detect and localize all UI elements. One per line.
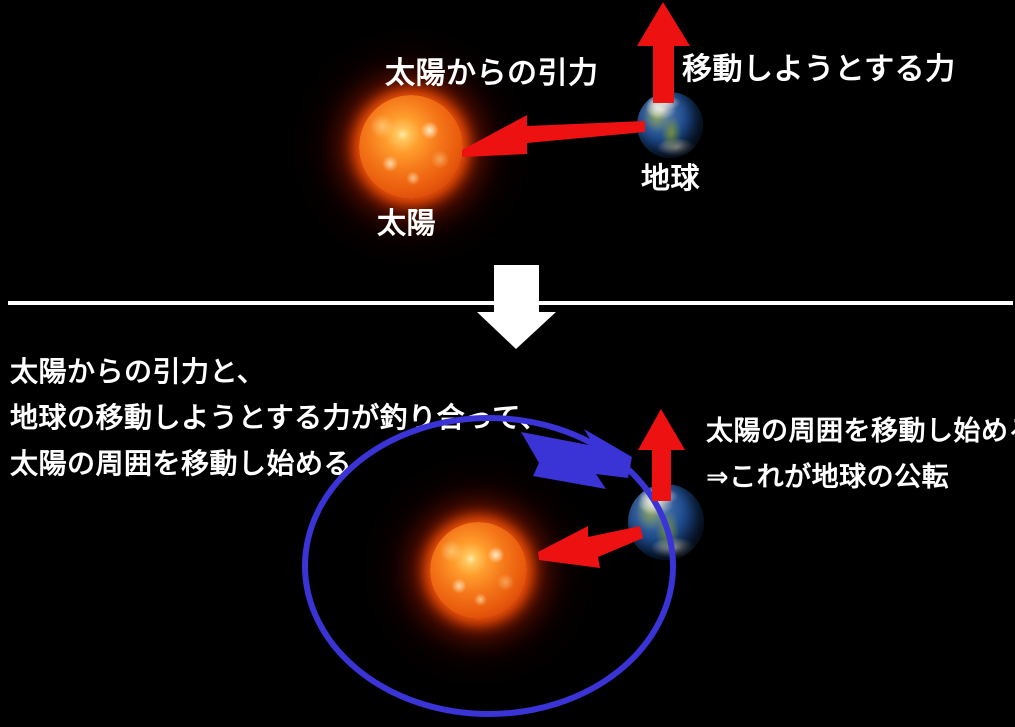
explanation-line-2: 地球の移動しようとする力が釣り合って、 <box>10 404 548 432</box>
conclusion-line-1: 太陽の周囲を移動し始める <box>706 418 1015 445</box>
sun-icon-bottom <box>430 522 527 619</box>
orbit-direction-arrow <box>521 429 632 489</box>
gravity-force-label-top: 太陽からの引力 <box>385 59 599 89</box>
sun-icon-top <box>359 95 463 199</box>
transition-arrow-down <box>477 265 556 349</box>
gravity-arrow-top <box>462 115 645 157</box>
section-divider <box>8 301 1013 305</box>
earth-caption-top: 地球 <box>641 164 700 193</box>
diagram-canvas: 太陽からの引力 太陽 地球 移動しようとする力 太陽からの引力と、 地球の移動し… <box>0 0 1015 727</box>
motion-force-label-top: 移動しようとする力 <box>682 55 956 85</box>
earth-icon-bottom <box>628 484 704 560</box>
earth-icon-top <box>637 92 703 158</box>
explanation-line-3: 太陽の周囲を移動し始める <box>10 450 352 478</box>
sun-caption-top: 太陽 <box>377 209 436 238</box>
explanation-line-1: 太陽からの引力と、 <box>10 358 265 386</box>
conclusion-line-2: ⇒これが地球の公転 <box>706 464 949 491</box>
